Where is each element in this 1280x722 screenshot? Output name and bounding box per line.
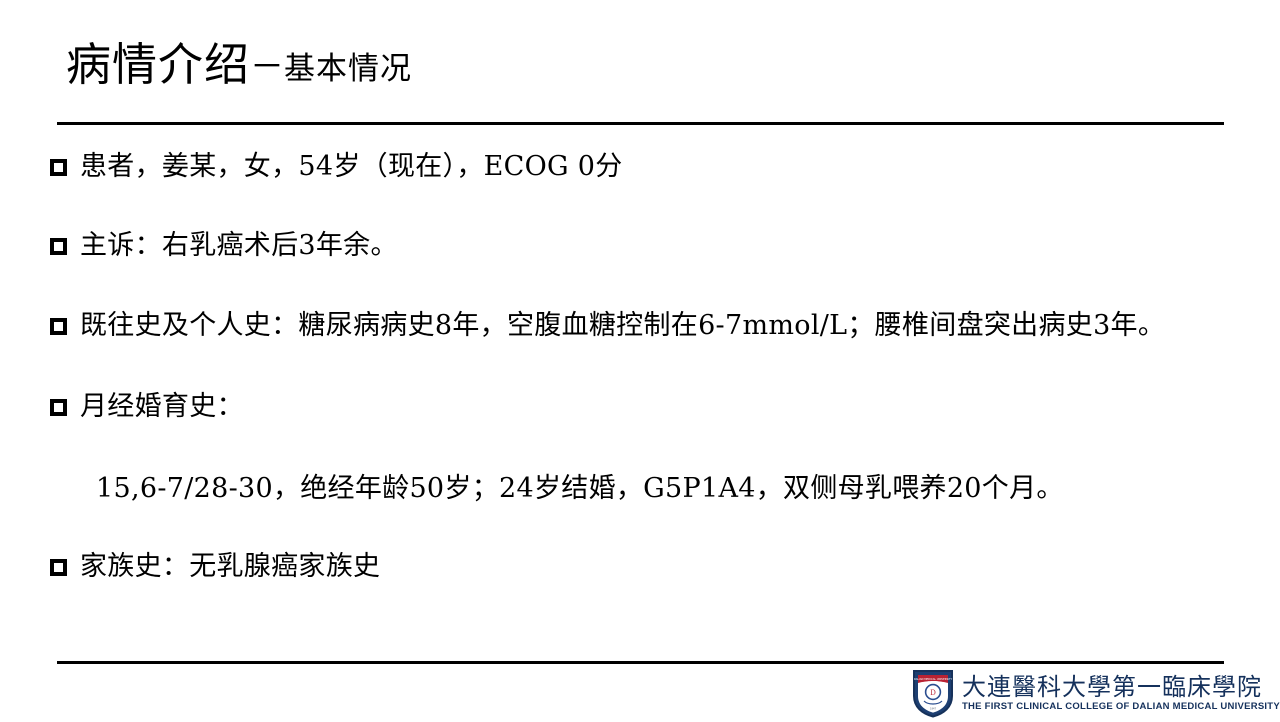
institution-name-cn: 大連醫科大學第一臨床學院 — [962, 675, 1280, 699]
list-item-label: 主诉：右乳癌术后3年余。 — [80, 229, 398, 263]
list-item: 患者，姜某，女，54岁（现在），ECOG 0分 — [50, 150, 623, 184]
list-item: 主诉：右乳癌术后3年余。 — [50, 229, 398, 263]
list-item: 家族史：无乳腺癌家族史 — [50, 550, 380, 584]
list-item: 既往史及个人史：糖尿病病史8年，空腹血糖控制在6-7mmol/L；腰椎间盘突出病… — [50, 309, 1165, 343]
footer-logo-text: 大連醫科大學第一臨床學院 THE FIRST CLINICAL COLLEGE … — [962, 675, 1280, 712]
slide-canvas: 病情介绍 － 基本情况 患者，姜某，女，54岁（现在），ECOG 0分 主诉：右… — [0, 0, 1280, 720]
divider-top — [57, 122, 1224, 125]
hollow-square-bullet-icon — [50, 159, 67, 176]
svg-text:D: D — [930, 689, 936, 697]
list-item-label: 既往史及个人史：糖尿病病史8年，空腹血糖控制在6-7mmol/L；腰椎间盘突出病… — [80, 309, 1165, 343]
hollow-square-bullet-icon — [50, 559, 67, 576]
hollow-square-bullet-icon — [50, 238, 67, 255]
hollow-square-bullet-icon — [50, 318, 67, 335]
list-item-label: 患者，姜某，女，54岁（现在），ECOG 0分 — [80, 150, 623, 184]
shield-crest-icon: DALIAN MEDICAL UNIVERSITY D 1947 — [912, 668, 954, 718]
footer-logo: DALIAN MEDICAL UNIVERSITY D 1947 大連醫科大學第… — [912, 668, 1280, 718]
svg-text:DALIAN MEDICAL UNIVERSITY: DALIAN MEDICAL UNIVERSITY — [914, 677, 953, 681]
divider-bottom — [57, 661, 1224, 664]
page-title-sub: 基本情况 — [284, 54, 412, 87]
list-item-detail: 15,6-7/28-30，绝经年龄50岁；24岁结婚，G5P1A4，双侧母乳喂养… — [96, 472, 1064, 506]
institution-name-en: THE FIRST CLINICAL COLLEGE OF DALIAN MED… — [962, 702, 1280, 712]
list-item-detail-label: 15,6-7/28-30，绝经年龄50岁；24岁结婚，G5P1A4，双侧母乳喂养… — [96, 473, 1064, 504]
list-item-label: 月经婚育史： — [80, 390, 244, 424]
page-title-main: 病情介绍 — [66, 42, 250, 87]
svg-text:1947: 1947 — [930, 708, 937, 711]
hollow-square-bullet-icon — [50, 399, 67, 416]
list-item-label: 家族史：无乳腺癌家族史 — [80, 550, 380, 584]
list-item: 月经婚育史： — [50, 390, 244, 424]
page-title-dash: － — [250, 50, 284, 87]
page-title: 病情介绍 － 基本情况 — [66, 42, 412, 87]
